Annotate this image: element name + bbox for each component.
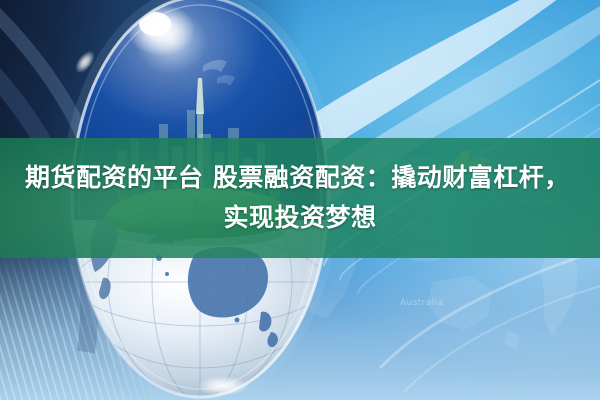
caption-block: 期货配资的平台 股票融资配资：撬动财富杠杆， 实现投资梦想 [0,138,600,258]
caption-line-1: 期货配资的平台 股票融资配资：撬动财富杠杆， [25,158,570,198]
banner-image: China United States Australia 期货配资的平台 股票… [0,0,600,400]
caption-line-2: 实现投资梦想 [223,198,376,238]
